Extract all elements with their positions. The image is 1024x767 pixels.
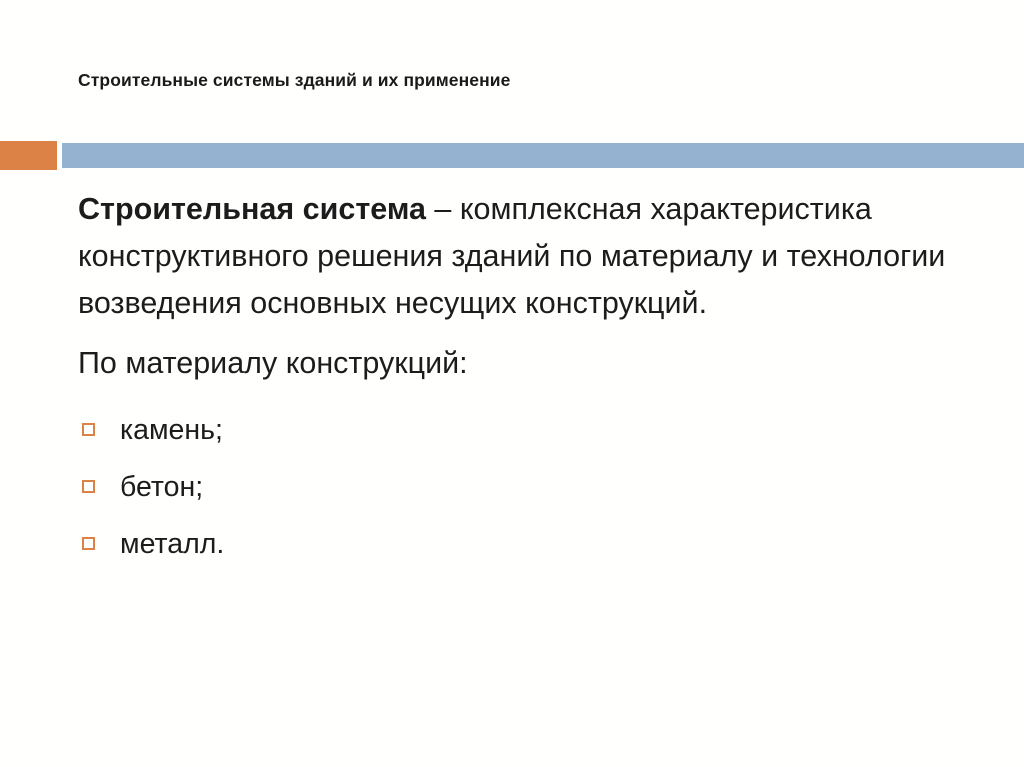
list-item-label: камень; [120,413,223,447]
material-list: камень; бетон; металл. [78,387,978,572]
slide-body: Строительная система – комплексная харак… [78,186,978,572]
list-item-label: бетон; [120,470,203,504]
hollow-square-bullet-icon [82,480,95,493]
list-item: бетон; [78,458,978,515]
title-divider [0,141,1024,171]
slide-canvas: Строительные системы зданий и их примене… [0,0,1024,767]
list-item: камень; [78,401,978,458]
hollow-square-bullet-icon [82,537,95,550]
list-item: металл. [78,515,978,572]
section-heading: По материалу конструкций: [78,327,978,387]
hollow-square-bullet-icon [82,423,95,436]
divider-accent-block [0,141,57,170]
page-title: Строительные системы зданий и их примене… [78,68,948,92]
divider-band [62,143,1024,168]
list-item-label: металл. [120,527,224,561]
definition-term: Строительная система [78,192,426,226]
definition-paragraph: Строительная система – комплексная харак… [78,186,978,327]
